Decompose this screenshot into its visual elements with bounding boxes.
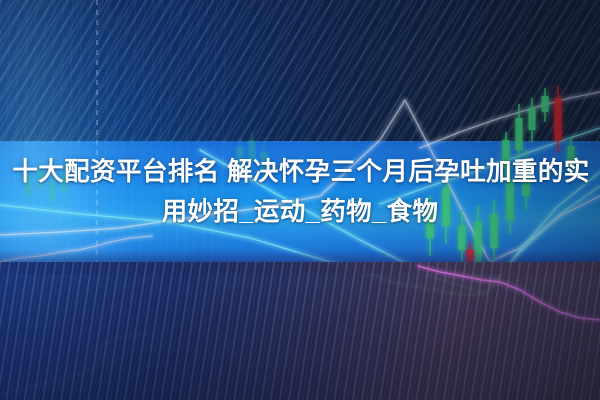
overlay-line-series: [418, 266, 600, 320]
banner-title: 十大配资平台排名 解决怀孕三个月后孕吐加重的实 用妙招_运动_药物_食物: [0, 152, 600, 232]
banner-title-line-2: 用妙招_运动_药物_食物: [0, 192, 600, 232]
financial-banner: 十大配资平台排名 解决怀孕三个月后孕吐加重的实 用妙招_运动_药物_食物: [0, 0, 600, 400]
magenta-line-halo: [418, 266, 600, 320]
banner-title-line-1: 十大配资平台排名 解决怀孕三个月后孕吐加重的实: [0, 152, 600, 192]
